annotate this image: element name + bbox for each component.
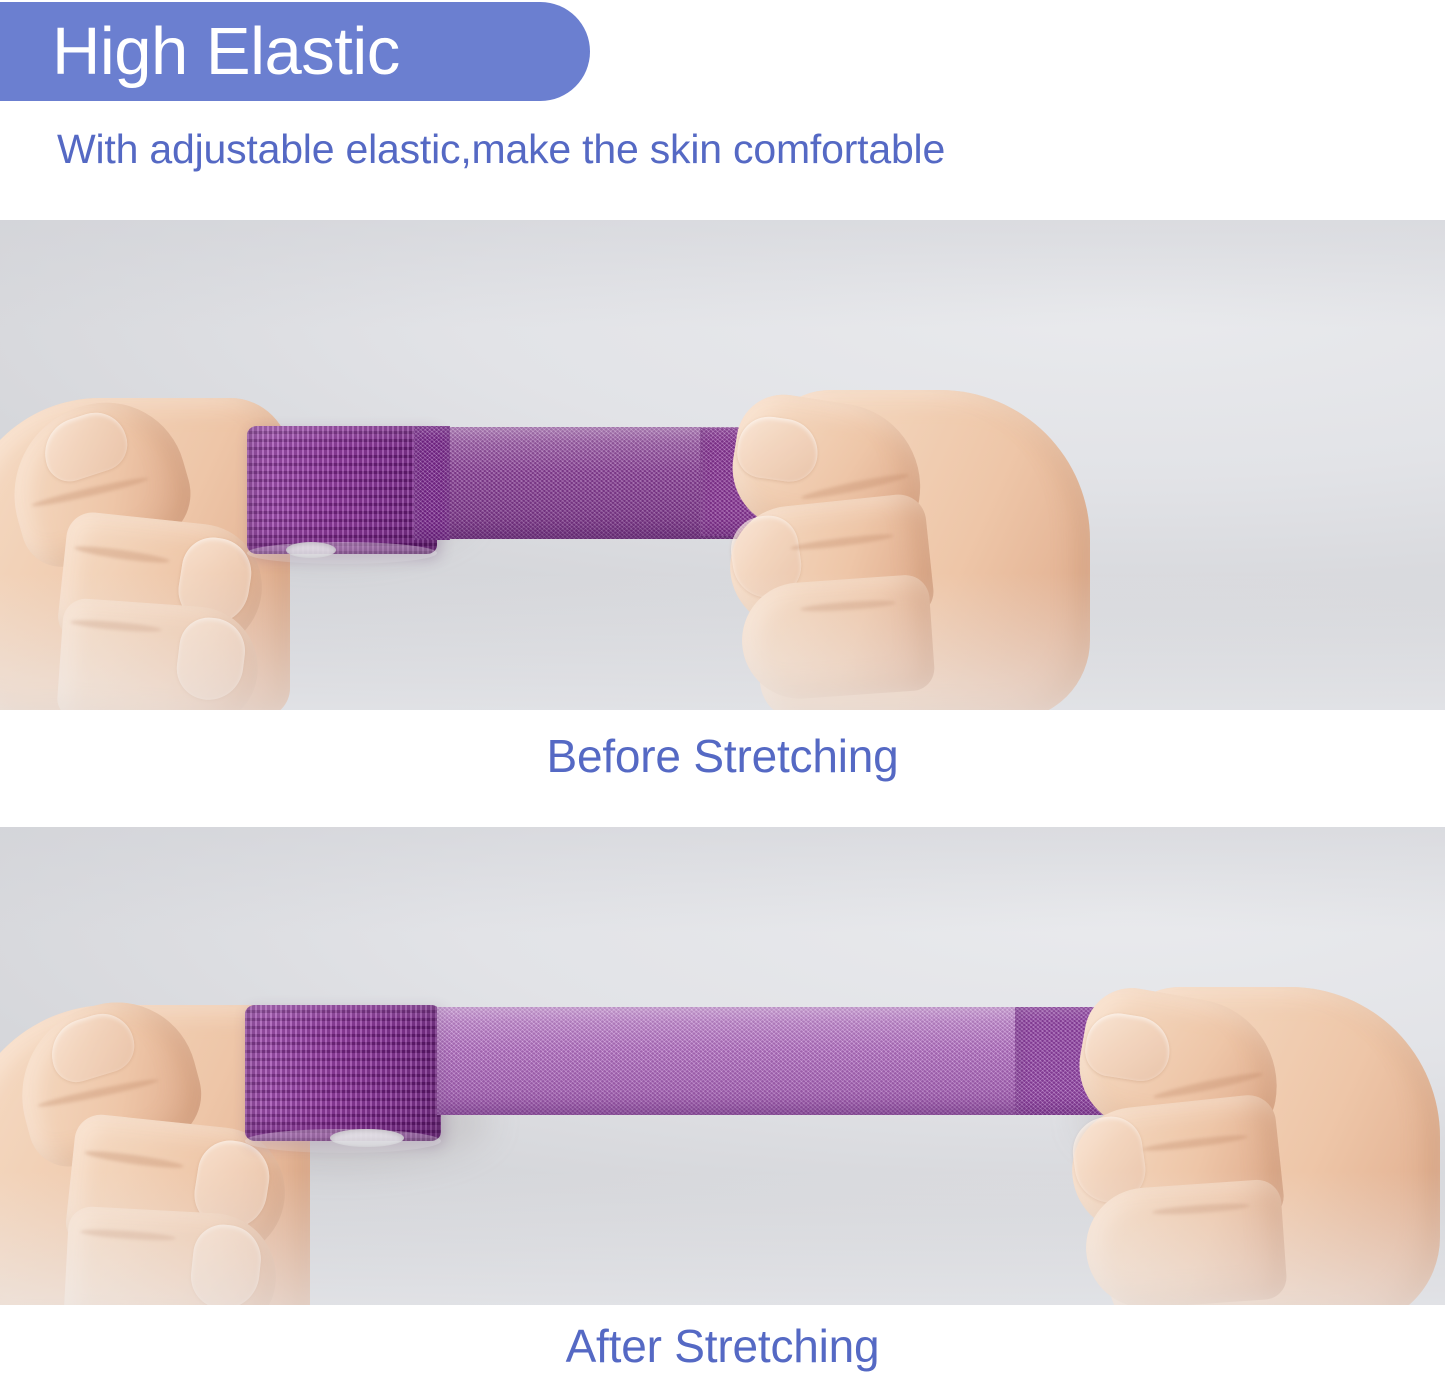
caption-after-stretching: After Stretching <box>0 1318 1445 1374</box>
tape-strip-stretched <box>437 1007 1047 1115</box>
tape-roll <box>247 426 437 554</box>
tape-roll-rim <box>247 542 437 564</box>
caption-before-stretching: Before Stretching <box>0 728 1445 784</box>
tape-strip-roll-end <box>414 426 450 540</box>
tape-roll-core <box>330 1129 404 1147</box>
header-subtitle: With adjustable elastic,make the skin co… <box>57 125 1397 174</box>
high-elastic-badge: High Elastic <box>0 2 590 101</box>
tape-roll <box>245 1005 441 1141</box>
photo-before-stretching <box>0 220 1445 710</box>
right-middle-finger <box>738 574 936 703</box>
badge-label: High Elastic <box>0 18 400 85</box>
tape-roll-core <box>286 542 336 558</box>
infographic-page: High Elastic With adjustable elastic,mak… <box>0 0 1445 1383</box>
photo-after-stretching <box>0 827 1445 1305</box>
right-middle-finger <box>1082 1178 1288 1305</box>
